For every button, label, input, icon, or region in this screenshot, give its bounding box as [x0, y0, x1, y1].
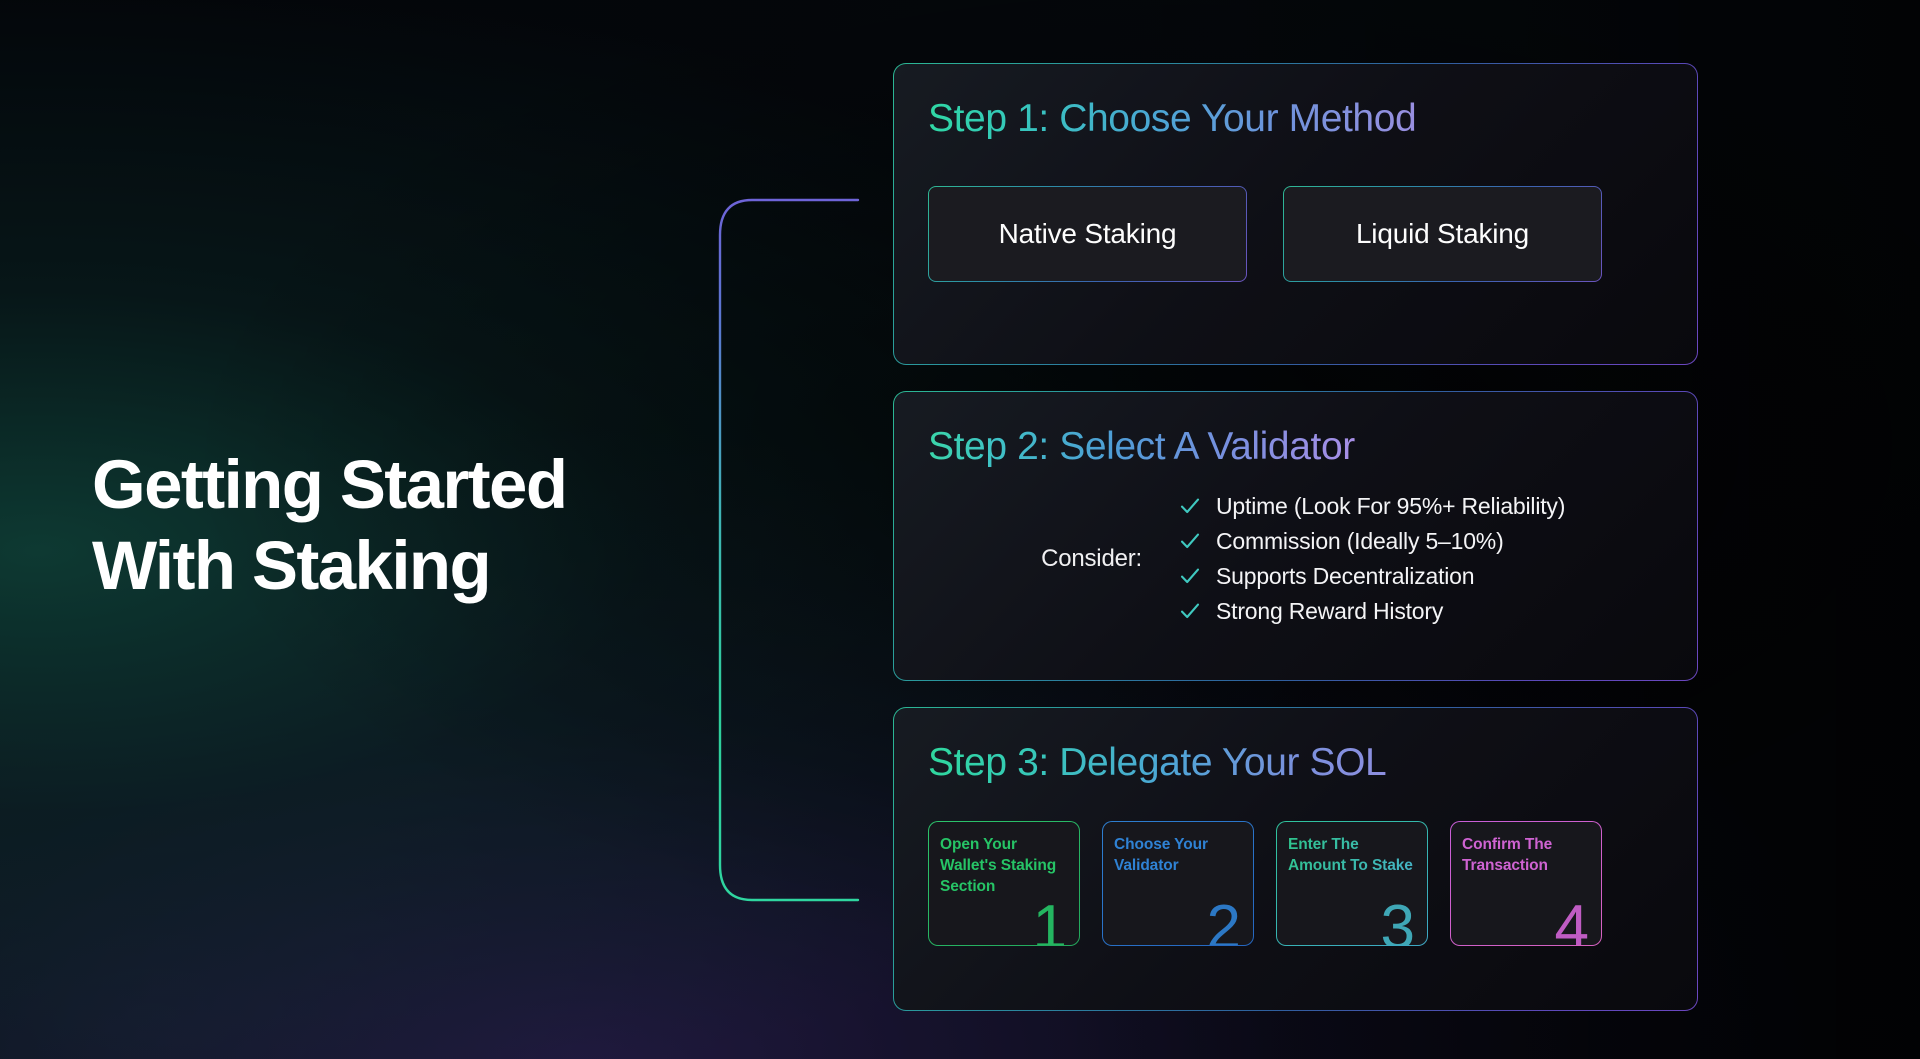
delegate-action-2-number: 2: [1207, 897, 1241, 945]
check-icon: [1178, 599, 1202, 623]
steps-container: Step 1: Choose Your Method Native Stakin…: [893, 63, 1698, 1037]
delegate-action-2-body: Choose Your Validator 2: [1103, 822, 1253, 945]
step-3-title: Step 3: Delegate Your SOL: [928, 740, 1386, 787]
method-options: Native Staking Liquid Staking: [928, 186, 1663, 282]
liquid-staking-button[interactable]: Liquid Staking: [1283, 186, 1602, 282]
delegate-action-2-label: Choose Your Validator: [1114, 834, 1242, 876]
criteria-item: Supports Decentralization: [1178, 563, 1565, 590]
page-title: Getting Started With Staking: [92, 444, 712, 607]
delegate-action-3-label: Enter The Amount To Stake: [1288, 834, 1416, 876]
validator-criteria-list: Uptime (Look For 95%+ Reliability) Commi…: [1178, 493, 1565, 625]
criteria-item: Uptime (Look For 95%+ Reliability): [1178, 493, 1565, 520]
consider-label: Consider:: [928, 545, 1178, 573]
native-staking-button[interactable]: Native Staking: [928, 186, 1247, 282]
step-card-3-body: Step 3: Delegate Your SOL Open Your Wall…: [894, 708, 1697, 1010]
liquid-staking-label: Liquid Staking: [1284, 187, 1601, 281]
validator-criteria-row: Consider: Uptime (Look For 95%+ Reliabil…: [928, 493, 1663, 625]
native-staking-label: Native Staking: [929, 187, 1246, 281]
delegate-action-1-body: Open Your Wallet's Staking Section 1: [929, 822, 1079, 945]
page-title-line-1: Getting Started: [92, 444, 712, 525]
step-2-title: Step 2: Select A Validator: [928, 424, 1355, 471]
delegate-action-1[interactable]: Open Your Wallet's Staking Section 1: [928, 821, 1080, 946]
criteria-label: Supports Decentralization: [1216, 563, 1474, 590]
bracket-connector: [700, 195, 860, 905]
check-icon: [1178, 529, 1202, 553]
step-card-1-body: Step 1: Choose Your Method Native Stakin…: [894, 64, 1697, 364]
delegate-action-3-number: 3: [1381, 897, 1415, 945]
delegate-action-1-label: Open Your Wallet's Staking Section: [940, 834, 1068, 897]
step-card-2-body: Step 2: Select A Validator Consider: Upt…: [894, 392, 1697, 680]
page-title-line-2: With Staking: [92, 525, 712, 606]
delegate-action-4[interactable]: Confirm The Transaction 4: [1450, 821, 1602, 946]
step-1-title: Step 1: Choose Your Method: [928, 96, 1416, 143]
delegate-action-2[interactable]: Choose Your Validator 2: [1102, 821, 1254, 946]
step-card-3: Step 3: Delegate Your SOL Open Your Wall…: [893, 707, 1698, 1011]
delegate-action-3[interactable]: Enter The Amount To Stake 3: [1276, 821, 1428, 946]
criteria-label: Strong Reward History: [1216, 598, 1443, 625]
delegate-action-4-number: 4: [1555, 897, 1589, 945]
criteria-label: Uptime (Look For 95%+ Reliability): [1216, 493, 1565, 520]
delegate-action-4-body: Confirm The Transaction 4: [1451, 822, 1601, 945]
check-icon: [1178, 564, 1202, 588]
step-card-2: Step 2: Select A Validator Consider: Upt…: [893, 391, 1698, 681]
delegate-action-4-label: Confirm The Transaction: [1462, 834, 1590, 876]
delegate-action-1-number: 1: [1033, 897, 1067, 945]
delegate-action-3-body: Enter The Amount To Stake 3: [1277, 822, 1427, 945]
criteria-item: Strong Reward History: [1178, 598, 1565, 625]
check-icon: [1178, 494, 1202, 518]
criteria-item: Commission (Ideally 5–10%): [1178, 528, 1565, 555]
delegate-actions-row: Open Your Wallet's Staking Section 1 Cho…: [928, 821, 1663, 946]
step-card-1: Step 1: Choose Your Method Native Stakin…: [893, 63, 1698, 365]
criteria-label: Commission (Ideally 5–10%): [1216, 528, 1504, 555]
